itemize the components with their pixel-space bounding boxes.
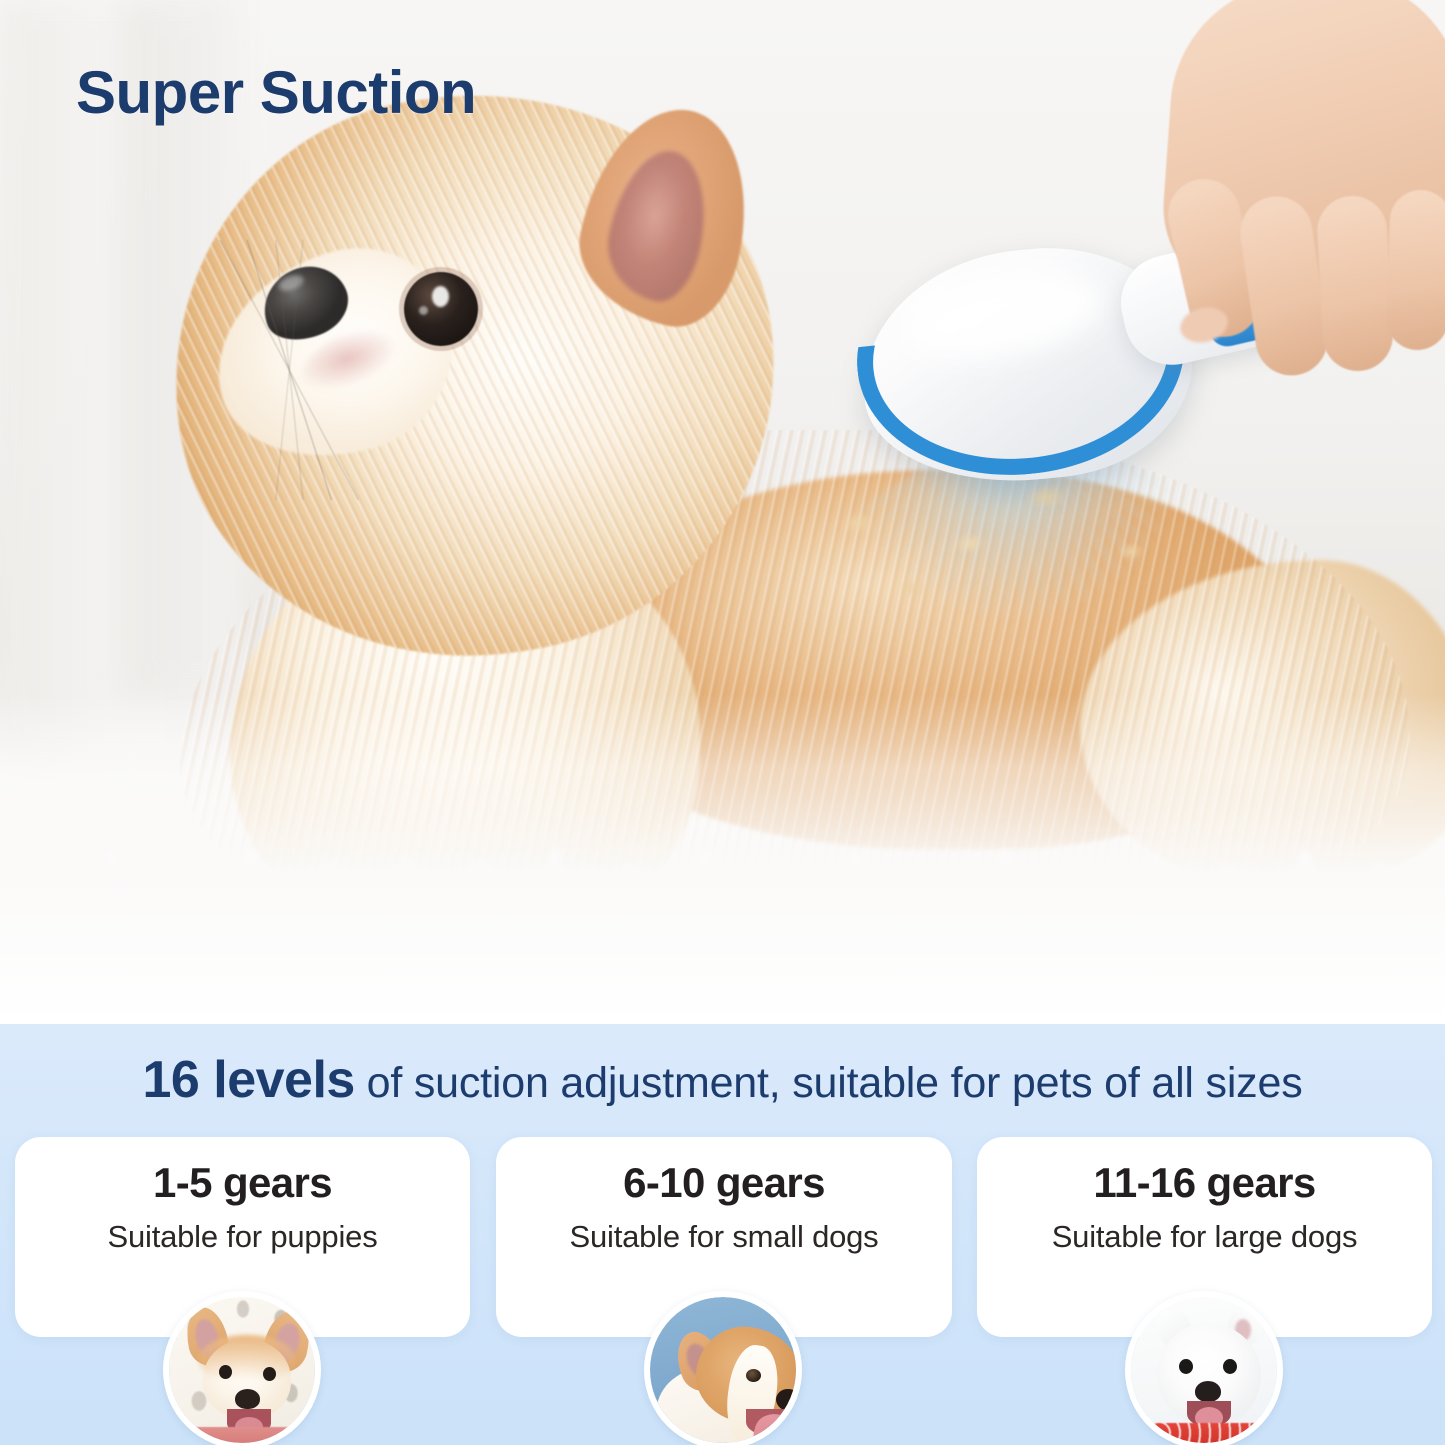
banner-headline-bold: 16 levels bbox=[142, 1051, 354, 1109]
avatar-image-1 bbox=[169, 1297, 315, 1443]
hand-finger-little bbox=[1385, 189, 1445, 351]
gear-card-title: 1-5 gears bbox=[15, 1159, 470, 1207]
avatar-1-eye-left bbox=[219, 1365, 232, 1379]
avatar-3-red-collar bbox=[1147, 1423, 1271, 1443]
avatar-1-nose bbox=[235, 1389, 260, 1409]
avatar-2-eye bbox=[746, 1369, 761, 1382]
avatar-3-eye-left bbox=[1179, 1359, 1193, 1374]
page-title: Super Suction bbox=[76, 58, 476, 127]
hand-finger-ring bbox=[1315, 194, 1394, 372]
banner-headline: 16 levels of suction adjustment, suitabl… bbox=[0, 1050, 1445, 1110]
gear-card-title: 6-10 gears bbox=[496, 1159, 952, 1207]
gear-card-subtitle: Suitable for small dogs bbox=[496, 1219, 952, 1255]
hero-photo: Super Suction bbox=[0, 0, 1445, 1024]
banner-headline-rest: of suction adjustment, suitable for pets… bbox=[355, 1059, 1303, 1107]
dog-whiskers bbox=[120, 240, 460, 500]
suction-levels-banner: 16 levels of suction adjustment, suitabl… bbox=[0, 1024, 1445, 1445]
avatar-3-eye-right bbox=[1223, 1359, 1237, 1374]
white-samoyed-dog-photo bbox=[1125, 1291, 1283, 1445]
avatar-1-eye-right bbox=[263, 1367, 276, 1381]
avatar-1-collar bbox=[195, 1427, 301, 1443]
corgi-puppy-photo bbox=[163, 1291, 321, 1445]
gear-card-subtitle: Suitable for large dogs bbox=[977, 1219, 1432, 1255]
avatar-image-2 bbox=[650, 1297, 796, 1443]
gear-card-subtitle: Suitable for puppies bbox=[15, 1219, 470, 1255]
avatar-1-tan-marking bbox=[199, 1335, 295, 1381]
product-feature-image: Super Suction 16 levels of suction adjus… bbox=[0, 0, 1445, 1445]
avatar-3-nose bbox=[1195, 1381, 1221, 1402]
avatar-image-3 bbox=[1131, 1297, 1277, 1443]
white-fluffy-rug bbox=[0, 694, 1445, 1024]
gear-cards-row: 1-5 gears Suitable for puppies bbox=[0, 1137, 1445, 1445]
gear-card-title: 11-16 gears bbox=[977, 1159, 1432, 1207]
corgi-dog-photo bbox=[644, 1291, 802, 1445]
